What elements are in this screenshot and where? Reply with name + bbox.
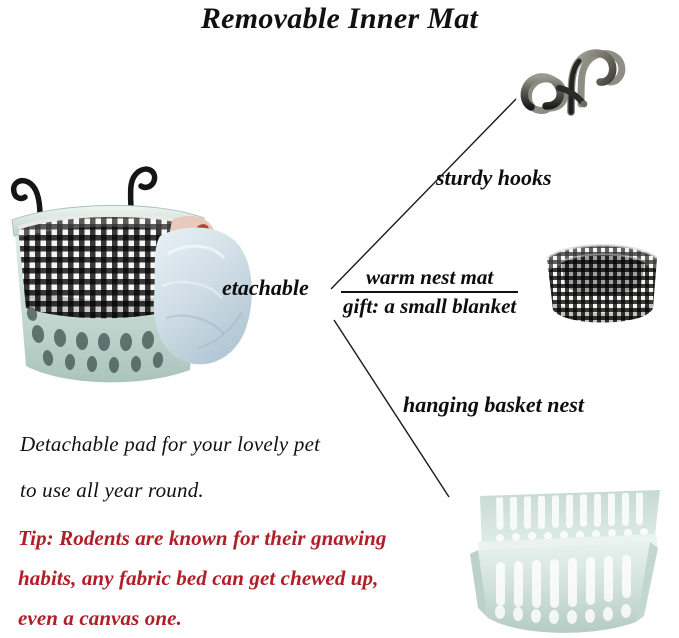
description-line-2: to use all year round. xyxy=(20,478,204,503)
fraction-bar xyxy=(341,291,518,293)
label-sturdy-hooks: sturdy hooks xyxy=(436,165,552,191)
basket-hook-left-icon xyxy=(14,181,40,216)
fraction-numerator: warm nest mat xyxy=(341,266,518,291)
leader-line-to-hooks xyxy=(331,99,516,289)
tip-line-2: habits, any fabric bed can get chewed up… xyxy=(18,566,379,591)
tip-line-3: even a canvas one. xyxy=(18,606,182,631)
description-line-1: Detachable pad for your lovely pet xyxy=(20,432,320,457)
label-hanging-basket-nest: hanging basket nest xyxy=(403,392,584,418)
fraction-denominator: gift: a small blanket xyxy=(341,295,518,319)
product-infographic: Removable Inner Mat xyxy=(0,0,679,638)
sturdy-hooks-image xyxy=(505,38,630,116)
warm-nest-mat-image xyxy=(533,228,671,338)
tip-line-1: Tip: Rodents are known for their gnawing xyxy=(18,526,386,551)
label-detachable: etachable xyxy=(222,275,309,301)
page-title: Removable Inner Mat xyxy=(0,2,679,36)
label-warm-nest-mat-fraction: warm nest mat gift: a small blanket xyxy=(341,266,518,318)
hanging-basket-nest-image xyxy=(452,488,662,638)
